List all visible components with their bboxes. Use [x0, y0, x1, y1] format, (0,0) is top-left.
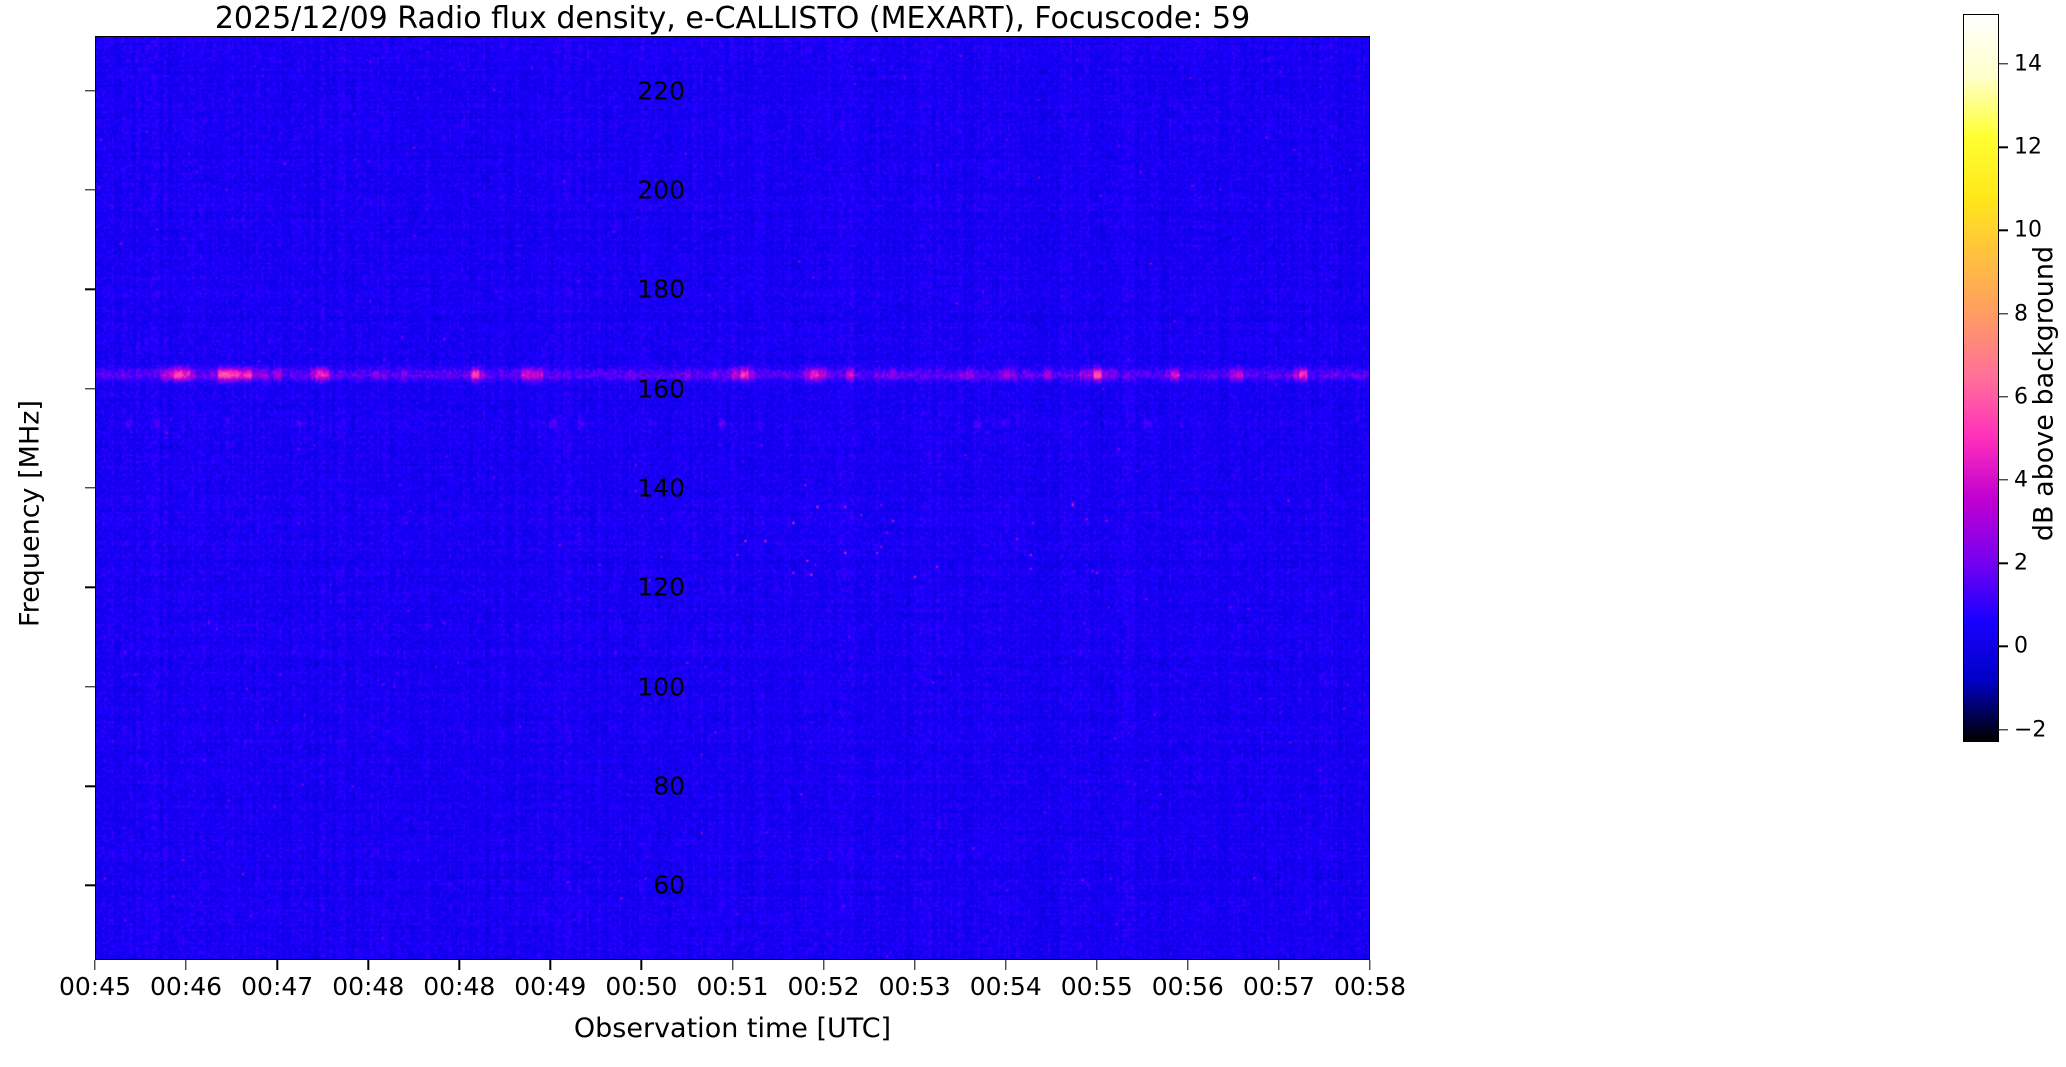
colorbar-tick-mark [1999, 646, 2008, 647]
colorbar-tick-mark [1999, 729, 2008, 730]
chart-title: 2025/12/09 Radio flux density, e-CALLIST… [95, 2, 1370, 36]
x-axis-tick-mark [1278, 960, 1279, 970]
x-axis-tick-mark [459, 960, 460, 970]
x-axis-tick-mark [732, 960, 733, 970]
spectrogram-figure: 2025/12/09 Radio flux density, e-CALLIST… [0, 0, 2066, 1067]
x-axis-tick-mark [276, 960, 277, 970]
y-axis-tick-label: 160 [565, 374, 685, 403]
colorbar-tick-mark [1999, 63, 2008, 64]
x-axis-tick-mark [641, 960, 642, 970]
colorbar-tick-mark [1999, 230, 2008, 231]
colorbar [1963, 14, 1999, 742]
y-axis-tick-mark [85, 90, 95, 91]
x-axis-tick-mark [1005, 960, 1006, 970]
y-axis-tick-label: 60 [565, 871, 685, 900]
y-axis-tick-mark [85, 487, 95, 488]
y-axis-tick-label: 80 [565, 772, 685, 801]
y-axis-tick-label: 180 [565, 275, 685, 304]
colorbar-tick-mark [1999, 479, 2008, 480]
x-axis-tick-mark [823, 960, 824, 970]
x-axis-tick-mark [1096, 960, 1097, 970]
colorbar-tick-label: 8 [2014, 301, 2028, 326]
colorbar-tick-mark [1999, 146, 2008, 147]
colorbar-tick-mark [1999, 562, 2008, 563]
y-axis-tick-mark [85, 686, 95, 687]
y-axis-tick-mark [85, 885, 95, 886]
x-axis-tick-mark [1369, 960, 1370, 970]
y-axis-tick-label: 100 [565, 672, 685, 701]
y-axis-tick-mark [85, 289, 95, 290]
x-axis-tick-mark [185, 960, 186, 970]
x-axis-tick-mark [368, 960, 369, 970]
x-axis-tick-mark [550, 960, 551, 970]
y-axis-tick-label: 140 [565, 474, 685, 503]
x-axis-tick-mark [914, 960, 915, 970]
colorbar-tick-label: 6 [2014, 384, 2028, 409]
spectrogram-plot-area [95, 36, 1370, 960]
x-axis-tick-mark [94, 960, 95, 970]
y-axis-tick-label: 220 [565, 76, 685, 105]
colorbar-tick-label: 0 [2014, 634, 2028, 659]
colorbar-gradient [1964, 15, 1998, 741]
colorbar-tick-label: 2 [2014, 551, 2028, 576]
y-axis-label: Frequency [MHz] [15, 52, 46, 976]
colorbar-tick-label: 4 [2014, 467, 2028, 492]
y-axis-tick-label: 200 [565, 176, 685, 205]
colorbar-tick-mark [1999, 313, 2008, 314]
y-axis-tick-mark [85, 189, 95, 190]
x-axis-tick-mark [1187, 960, 1188, 970]
spectrogram-image [96, 37, 1369, 959]
y-axis-tick-mark [85, 785, 95, 786]
colorbar-tick-mark [1999, 396, 2008, 397]
colorbar-label: dB above background [2029, 30, 2060, 758]
y-axis-tick-mark [85, 587, 95, 588]
y-axis-tick-mark [85, 388, 95, 389]
x-axis-label: Observation time [UTC] [95, 1013, 1370, 1044]
y-axis-tick-label: 120 [565, 573, 685, 602]
x-axis-tick-label: 00:58 [1290, 972, 1450, 1001]
